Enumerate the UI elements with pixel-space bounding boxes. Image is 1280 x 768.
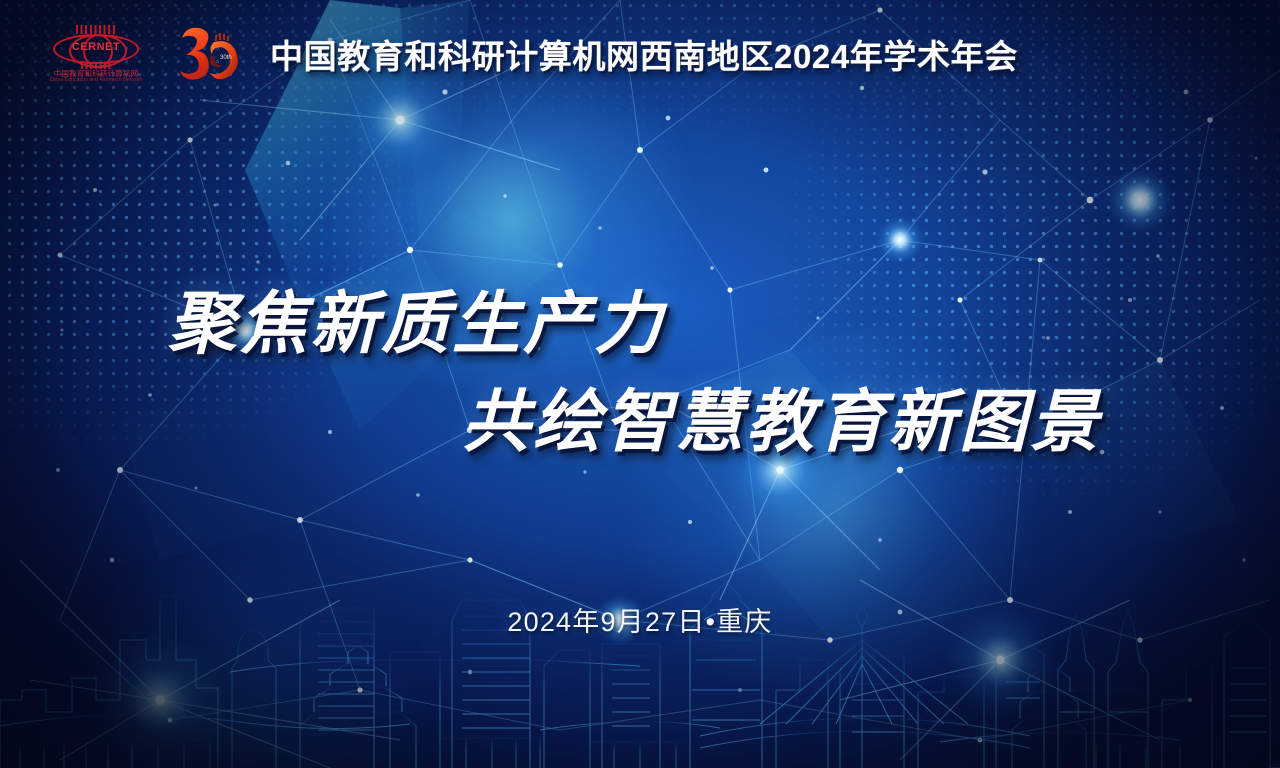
cernet-bars-top-icon [76, 25, 116, 34]
event-date-location: 2024年9月27日•重庆 [0, 600, 1280, 639]
anniversary-sub-label: 30th [220, 55, 232, 61]
cernet-name-en: China Education and Research Network [44, 77, 148, 83]
anniversary-30-logo: 30th [172, 24, 244, 86]
main-title-line-2: 共绘智慧教育新图景 [462, 366, 1101, 465]
poster-header: CERNET 中国教育和科研计算机网 China Education and R… [0, 0, 1280, 108]
page-title: 中国教育和科研计算机网西南地区2024年学术年会 [270, 30, 1018, 78]
main-title-line-1: 聚焦新质生产力 [168, 268, 665, 367]
poster-canvas: CERNET 中国教育和科研计算机网 China Education and R… [0, 0, 1280, 768]
light-burst-icon [30, 560, 450, 768]
cernet-logo: CERNET 中国教育和科研计算机网 China Education and R… [44, 24, 148, 86]
cernet-wordmark: CERNET [44, 41, 148, 53]
anniversary-30-icon: 30th [172, 24, 244, 86]
